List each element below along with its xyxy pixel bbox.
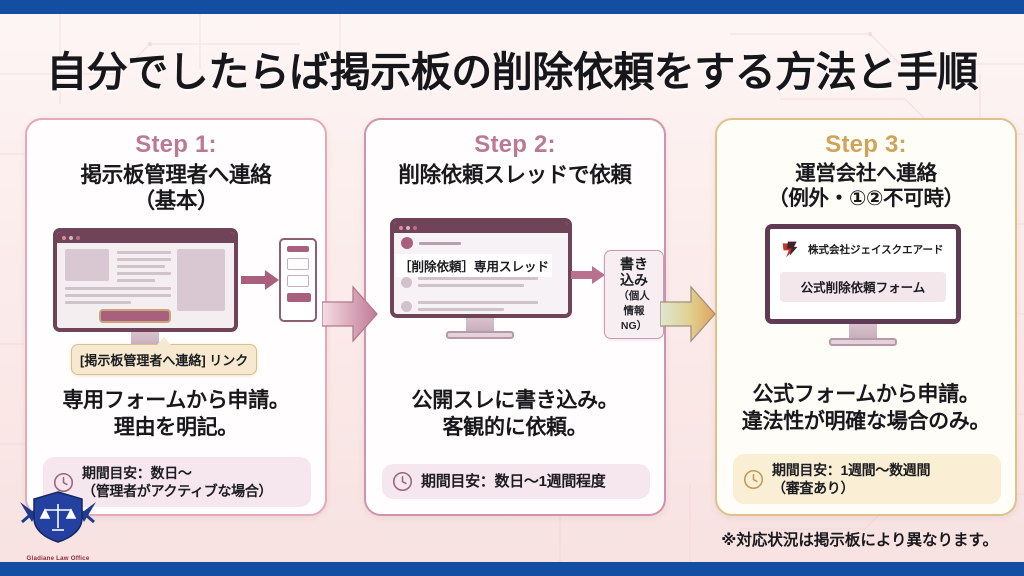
- step-1-desc-line1: 専用フォームから申請。: [27, 388, 325, 415]
- content-text-lines: [117, 251, 171, 282]
- step-1-desc-line2: 理由を明記。: [27, 415, 325, 442]
- browser-window-mockup: [53, 228, 238, 332]
- thread-post-3: [401, 301, 538, 312]
- monitor-stand-neck: [466, 318, 494, 331]
- monitor-stand-base: [829, 338, 897, 346]
- shield-scales-icon: [6, 490, 110, 552]
- company-name: 株式会社ジェイスクエアード: [808, 242, 944, 257]
- content-thumbnail: [65, 249, 109, 281]
- step-3-illustration: 株式会社ジェイスクエアード 公式削除依頼フォーム: [717, 224, 1015, 346]
- monitor-stand-base: [446, 331, 514, 339]
- window-dot-green: [413, 226, 417, 230]
- window-dot-red: [399, 226, 403, 230]
- window-dot-yellow: [69, 236, 73, 240]
- official-form-button[interactable]: 公式削除依頼フォーム: [780, 272, 946, 302]
- application-form-sheet: [279, 238, 317, 322]
- thread-titlebar: [394, 222, 568, 233]
- step-3-label: Step 3:: [717, 131, 1015, 159]
- browser-titlebar: [57, 232, 234, 243]
- step-2-callout-line2: （個人情報NG）: [614, 288, 654, 333]
- contact-admin-link-button[interactable]: [99, 309, 171, 323]
- step-2-thread-tag: ［削除依頼］専用スレッド: [396, 254, 552, 277]
- window-dot-red: [62, 236, 66, 240]
- arrow-step1-to-step2: [322, 285, 378, 343]
- form-header-block: [287, 246, 309, 252]
- avatar: [401, 301, 412, 312]
- post-lines: [418, 277, 538, 287]
- step-2-desc-line1: 公開スレに書き込み。: [366, 388, 664, 415]
- step-1-illustration: [27, 220, 325, 360]
- clock-icon: [392, 471, 413, 492]
- form-field-1[interactable]: [287, 258, 309, 270]
- step-1-link-callout: [掲示板管理者へ連絡] リンク: [71, 344, 257, 375]
- step-2-description: 公開スレに書き込み。 客観的に依頼。: [366, 388, 664, 441]
- step-3-duration-badge: 期間目安：1週間〜数週間 （審査あり）: [733, 454, 1001, 504]
- page-title: 自分でしたらば掲示板の削除依頼をする方法と手順: [0, 38, 1024, 98]
- callout-tip: [157, 337, 171, 345]
- step-3-desc-line2: 違法性が明確な場合のみ。: [717, 409, 1015, 436]
- step-2-duration-badge: 期間目安：数日〜1週間程度: [382, 464, 650, 499]
- step-1-heading-line2: （基本）: [27, 188, 325, 214]
- official-form-button-label: 公式削除依頼フォーム: [801, 281, 926, 295]
- content-lower-lines: [65, 287, 171, 304]
- arrow-to-writein-icon: [571, 266, 605, 284]
- company-row: 株式会社ジェイスクエアード: [780, 239, 946, 260]
- official-form-monitor-mockup: 株式会社ジェイスクエアード 公式削除依頼フォーム: [765, 224, 961, 324]
- step-1-callout-text: [掲示板管理者へ連絡] リンク: [80, 353, 248, 368]
- step-1-heading: 掲示板管理者へ連絡 （基本）: [27, 162, 325, 214]
- form-field-2[interactable]: [287, 275, 309, 287]
- avatar: [401, 237, 413, 249]
- step-2-desc-line2: 客観的に依頼。: [366, 415, 664, 442]
- step-1-duration-line2: （管理者がアクティブな場合）: [82, 482, 272, 500]
- step-2-label: Step 2:: [366, 131, 664, 159]
- step-2-callout-line1: 書き込み: [614, 256, 654, 288]
- step-3-heading-line1: 運営会社へ連絡: [717, 162, 1015, 187]
- step-1-description: 専用フォームから申請。 理由を明記。: [27, 388, 325, 441]
- step-card-1: Step 1: 掲示板管理者へ連絡 （基本）: [25, 118, 327, 516]
- step-1-label: Step 1:: [27, 131, 325, 159]
- step-1-duration-text: 期間目安：数日〜 （管理者がアクティブな場合）: [82, 464, 272, 500]
- step-3-duration-line2: （審査あり）: [772, 479, 930, 497]
- step-1-heading-line1: 掲示板管理者へ連絡: [27, 162, 325, 188]
- official-form-content: 株式会社ジェイスクエアード 公式削除依頼フォーム: [770, 229, 956, 319]
- bottom-blue-bar: [0, 562, 1024, 576]
- step-3-heading: 運営会社へ連絡 （例外・①②不可時）: [717, 162, 1015, 212]
- window-dot-yellow: [406, 226, 410, 230]
- step-1-duration-line1: 期間目安：数日〜: [82, 464, 272, 482]
- content-sidebar-block: [177, 249, 225, 311]
- thread-post-2: [401, 277, 538, 288]
- footnote: ※対応状況は掲示板により異なります。: [721, 528, 998, 550]
- step-2-duration-line1: 期間目安：数日〜1週間程度: [421, 472, 605, 492]
- step-3-duration-line1: 期間目安：1週間〜数週間: [772, 461, 930, 479]
- step-2-writein-callout: 書き込み （個人情報NG）: [604, 250, 664, 339]
- step-3-description: 公式フォームから申請。 違法性が明確な場合のみ。: [717, 382, 1015, 435]
- brand-logo-text: Gladiane Law Office: [6, 555, 110, 562]
- step-3-desc-line1: 公式フォームから申請。: [717, 382, 1015, 409]
- browser-content: [57, 243, 234, 332]
- step-3-heading-line2: （例外・①②不可時）: [717, 187, 1015, 212]
- clock-icon: [743, 469, 764, 490]
- step-card-3: Step 3: 運営会社へ連絡 （例外・①②不可時） 株式会社ジェイスクエアード…: [715, 118, 1017, 516]
- form-submit-button[interactable]: [287, 293, 311, 302]
- arrow-to-form-icon: [241, 270, 279, 290]
- step-2-illustration: ［削除依頼］専用スレッド 書き込み （個人情報NG）: [366, 218, 664, 334]
- jsquared-logo-icon: [780, 239, 801, 260]
- brand-logo: Gladiane Law Office: [6, 490, 110, 562]
- step-card-2: Step 2: 削除依頼スレッドで依頼: [364, 118, 666, 516]
- step-2-heading-line1: 削除依頼スレッドで依頼: [366, 162, 664, 188]
- monitor-stand-neck: [849, 324, 877, 338]
- arrow-step2-to-step3: [660, 285, 716, 343]
- avatar: [401, 277, 412, 288]
- window-dot-green: [76, 236, 80, 240]
- top-blue-bar: [0, 0, 1024, 14]
- thread-post-first: [401, 237, 461, 249]
- step-2-heading: 削除依頼スレッドで依頼: [366, 162, 664, 188]
- step-3-duration-text: 期間目安：1週間〜数週間 （審査あり）: [772, 461, 930, 497]
- step-2-duration-text: 期間目安：数日〜1週間程度: [421, 472, 605, 492]
- post-lines: [418, 301, 538, 311]
